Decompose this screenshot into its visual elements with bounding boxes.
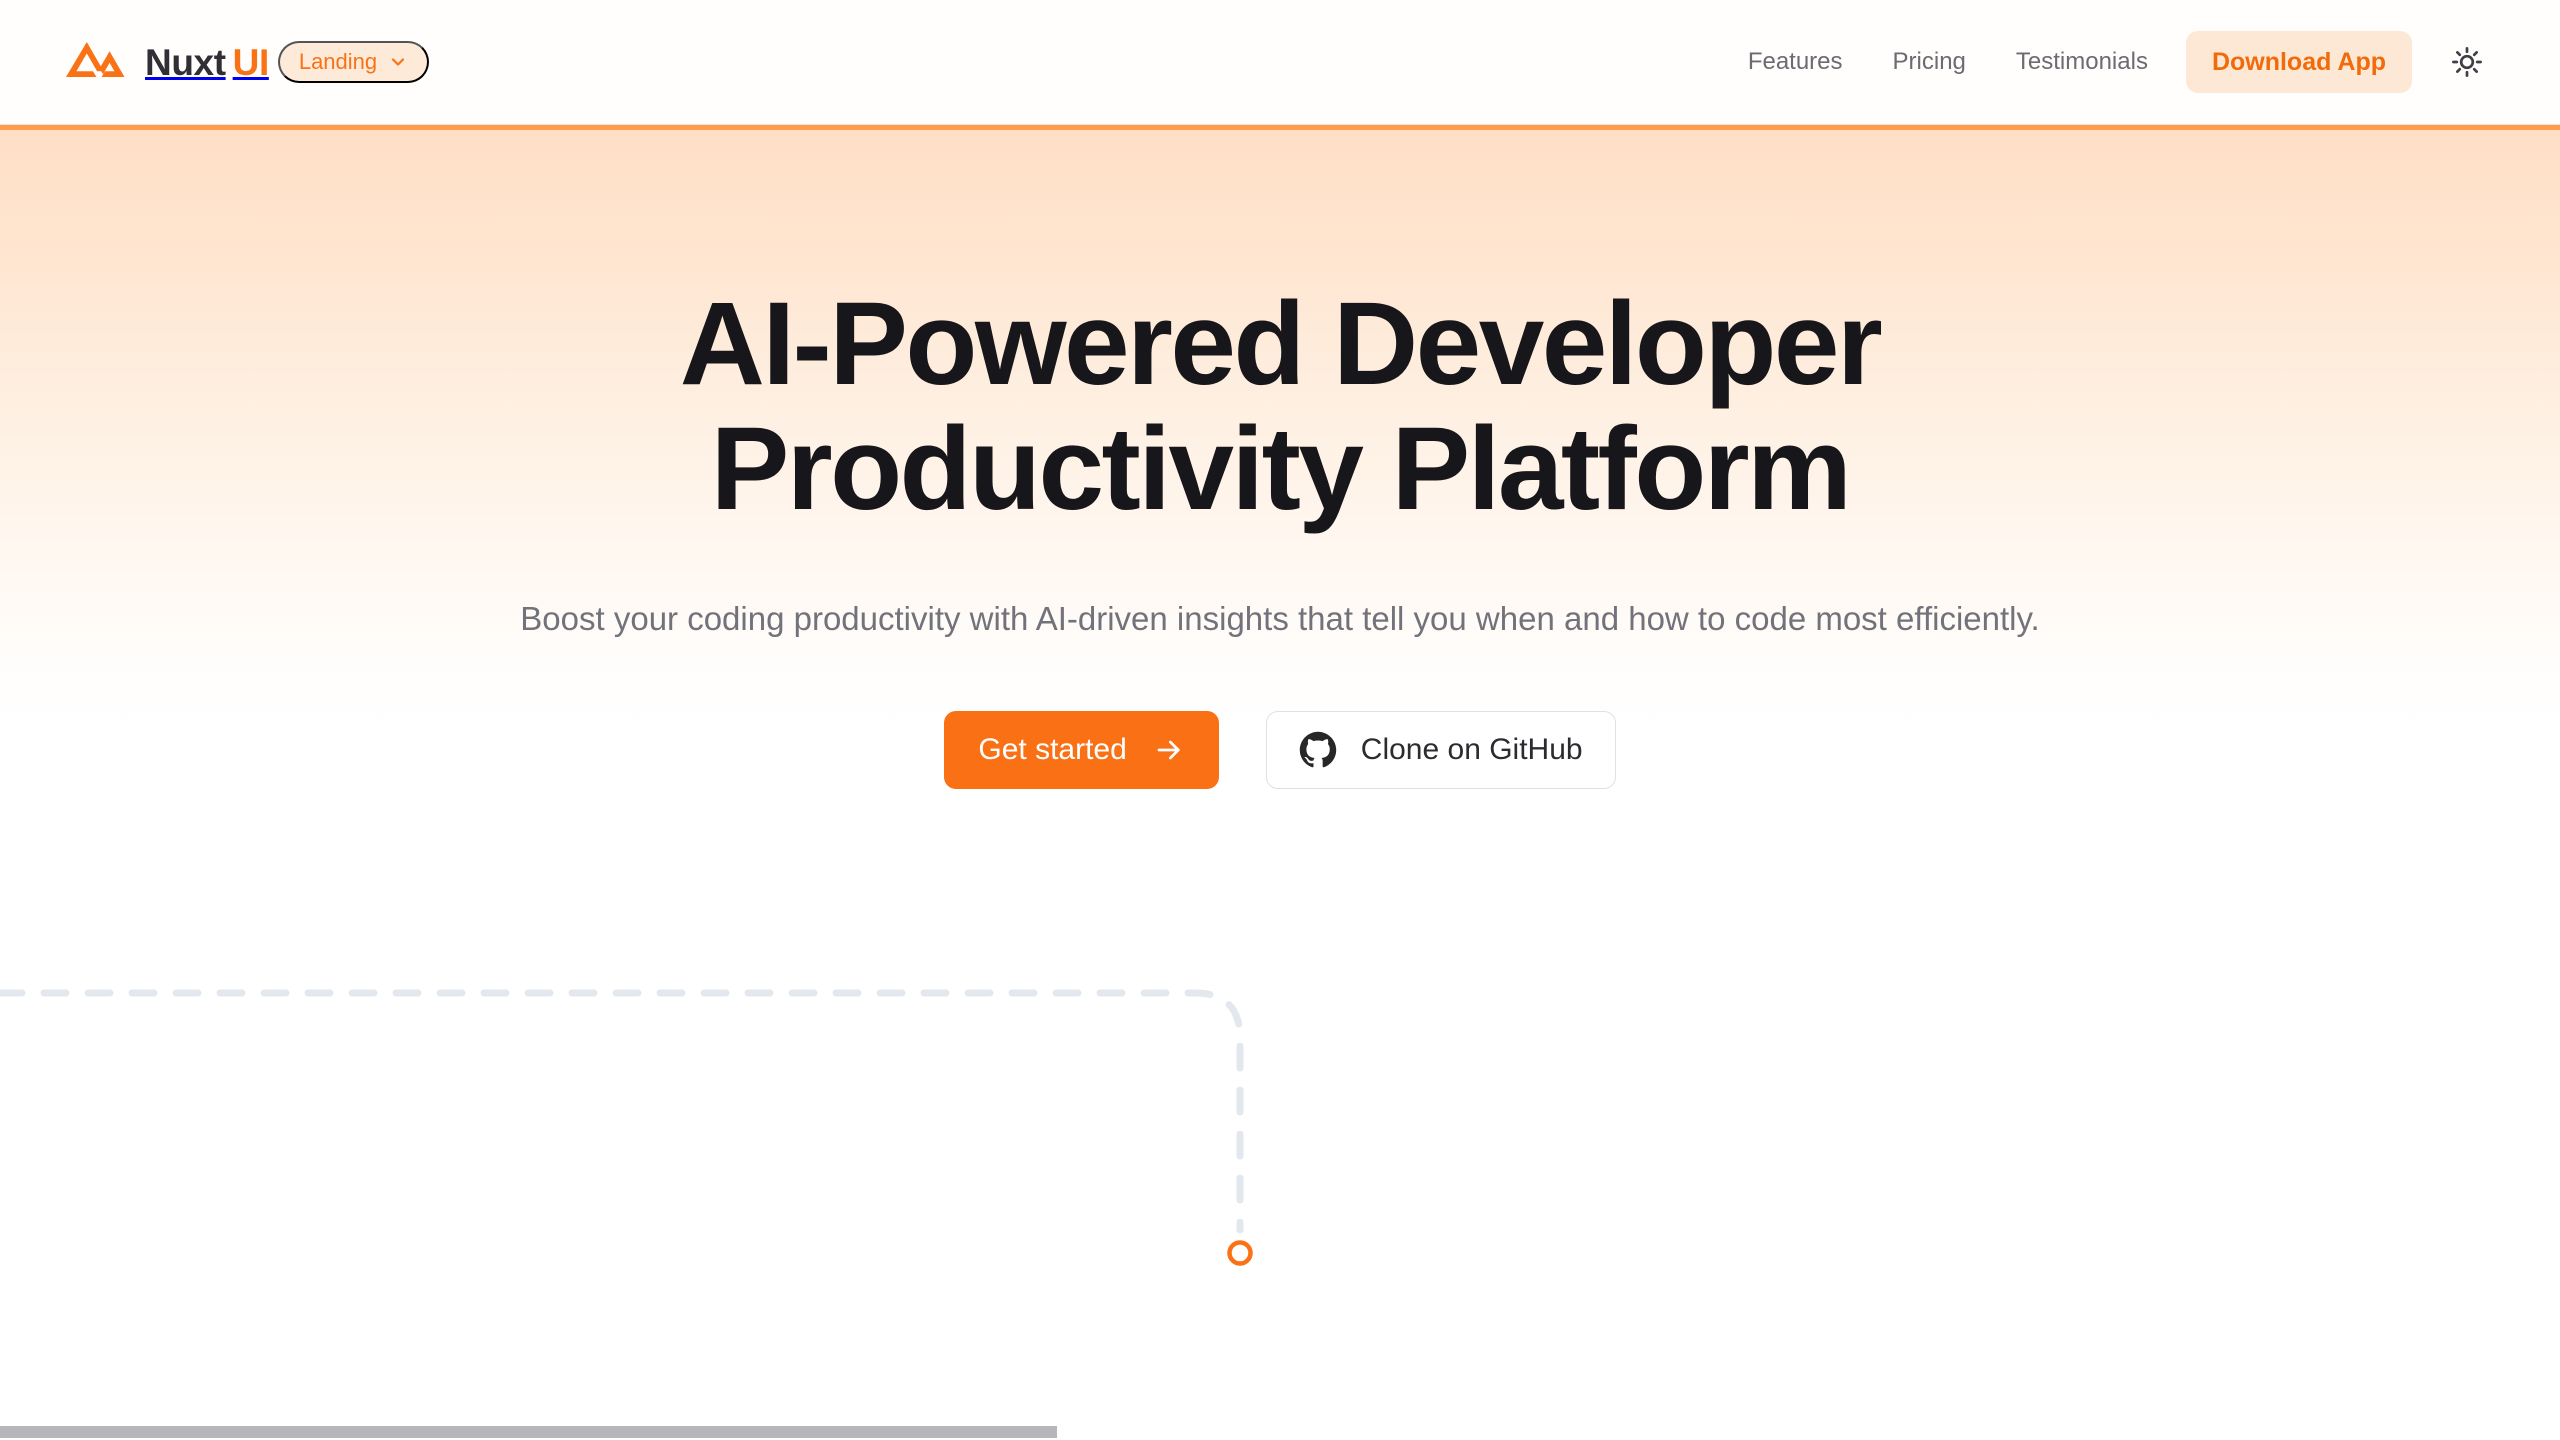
hero-subtitle: Boost your coding productivity with AI-d… [520, 595, 2039, 643]
brand-name-primary: Nuxt [145, 42, 226, 83]
hero-action-buttons: Get started Clone on GitHub [944, 711, 1615, 789]
brand-logo-link[interactable]: NuxtUI [62, 38, 269, 86]
arrow-right-icon [1153, 734, 1185, 766]
nuxt-mountain-logo-icon [62, 38, 128, 86]
header-accent-line [0, 125, 2560, 130]
site-header: NuxtUI Landing Features Pricing Testimon… [0, 0, 2560, 125]
landing-page: NuxtUI Landing Features Pricing Testimon… [0, 0, 2560, 1440]
nav-link-testimonials[interactable]: Testimonials [1991, 50, 2173, 74]
nav-link-pricing[interactable]: Pricing [1868, 50, 1991, 74]
sun-icon [2450, 45, 2484, 79]
main-navigation: Features Pricing Testimonials Download A… [1723, 31, 2498, 93]
chevron-down-icon [388, 52, 408, 72]
brand-area: NuxtUI Landing [62, 38, 429, 86]
hero-section: AI-Powered Developer Productivity Platfo… [0, 130, 2560, 789]
download-app-button[interactable]: Download App [2186, 31, 2412, 93]
dashed-path-decoration [0, 900, 2560, 1440]
brand-name-accent: UI [233, 42, 269, 83]
clone-on-github-label: Clone on GitHub [1361, 735, 1583, 765]
github-icon [1299, 731, 1337, 769]
dashed-path-line [0, 993, 1240, 1230]
theme-toggle-button[interactable] [2436, 31, 2498, 93]
landing-variant-label: Landing [299, 51, 377, 73]
horizontal-scrollbar-thumb[interactable] [0, 1426, 1057, 1438]
page-title: AI-Powered Developer Productivity Platfo… [430, 282, 2130, 532]
landing-variant-dropdown[interactable]: Landing [278, 41, 429, 83]
clone-on-github-button[interactable]: Clone on GitHub [1266, 711, 1616, 789]
nav-link-features[interactable]: Features [1723, 50, 1868, 74]
brand-name: NuxtUI [145, 44, 269, 81]
get-started-label: Get started [978, 735, 1126, 765]
path-node-marker [1230, 1243, 1251, 1264]
get-started-button[interactable]: Get started [944, 711, 1218, 789]
